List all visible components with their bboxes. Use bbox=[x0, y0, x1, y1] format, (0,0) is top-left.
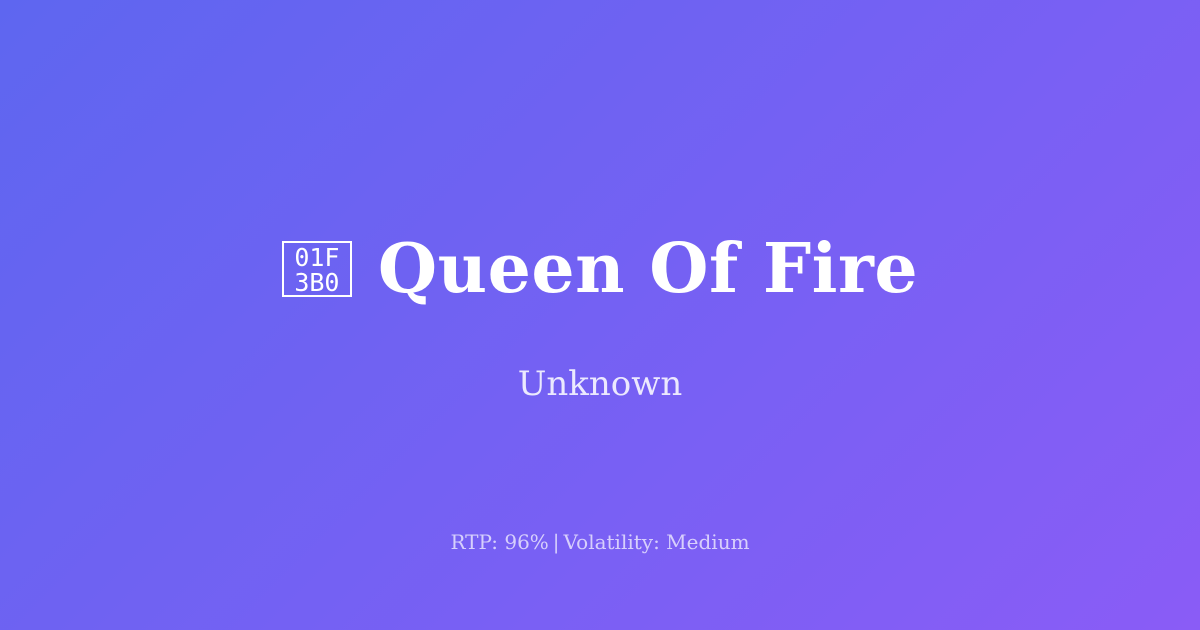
tofu-codepoint-bottom: 3B0 bbox=[294, 270, 339, 295]
game-stats: RTP: 96%|Volatility: Medium bbox=[0, 528, 1200, 556]
title-line: 01F 3B0 Queen Of Fire bbox=[0, 186, 1200, 351]
og-share-card: 01F 3B0 Queen Of Fire Unknown RTP: 96%|V… bbox=[0, 0, 1200, 630]
stats-separator: | bbox=[549, 530, 564, 554]
page-title: Queen Of Fire bbox=[378, 232, 918, 306]
rtp-stat: RTP: 96% bbox=[450, 530, 548, 554]
title-block: 01F 3B0 Queen Of Fire bbox=[0, 0, 1200, 538]
tofu-codepoint-top: 01F bbox=[294, 245, 339, 270]
provider-label: Unknown bbox=[0, 362, 1200, 406]
volatility-stat: Volatility: Medium bbox=[564, 530, 750, 554]
slot-machine-icon: 01F 3B0 bbox=[282, 241, 352, 297]
